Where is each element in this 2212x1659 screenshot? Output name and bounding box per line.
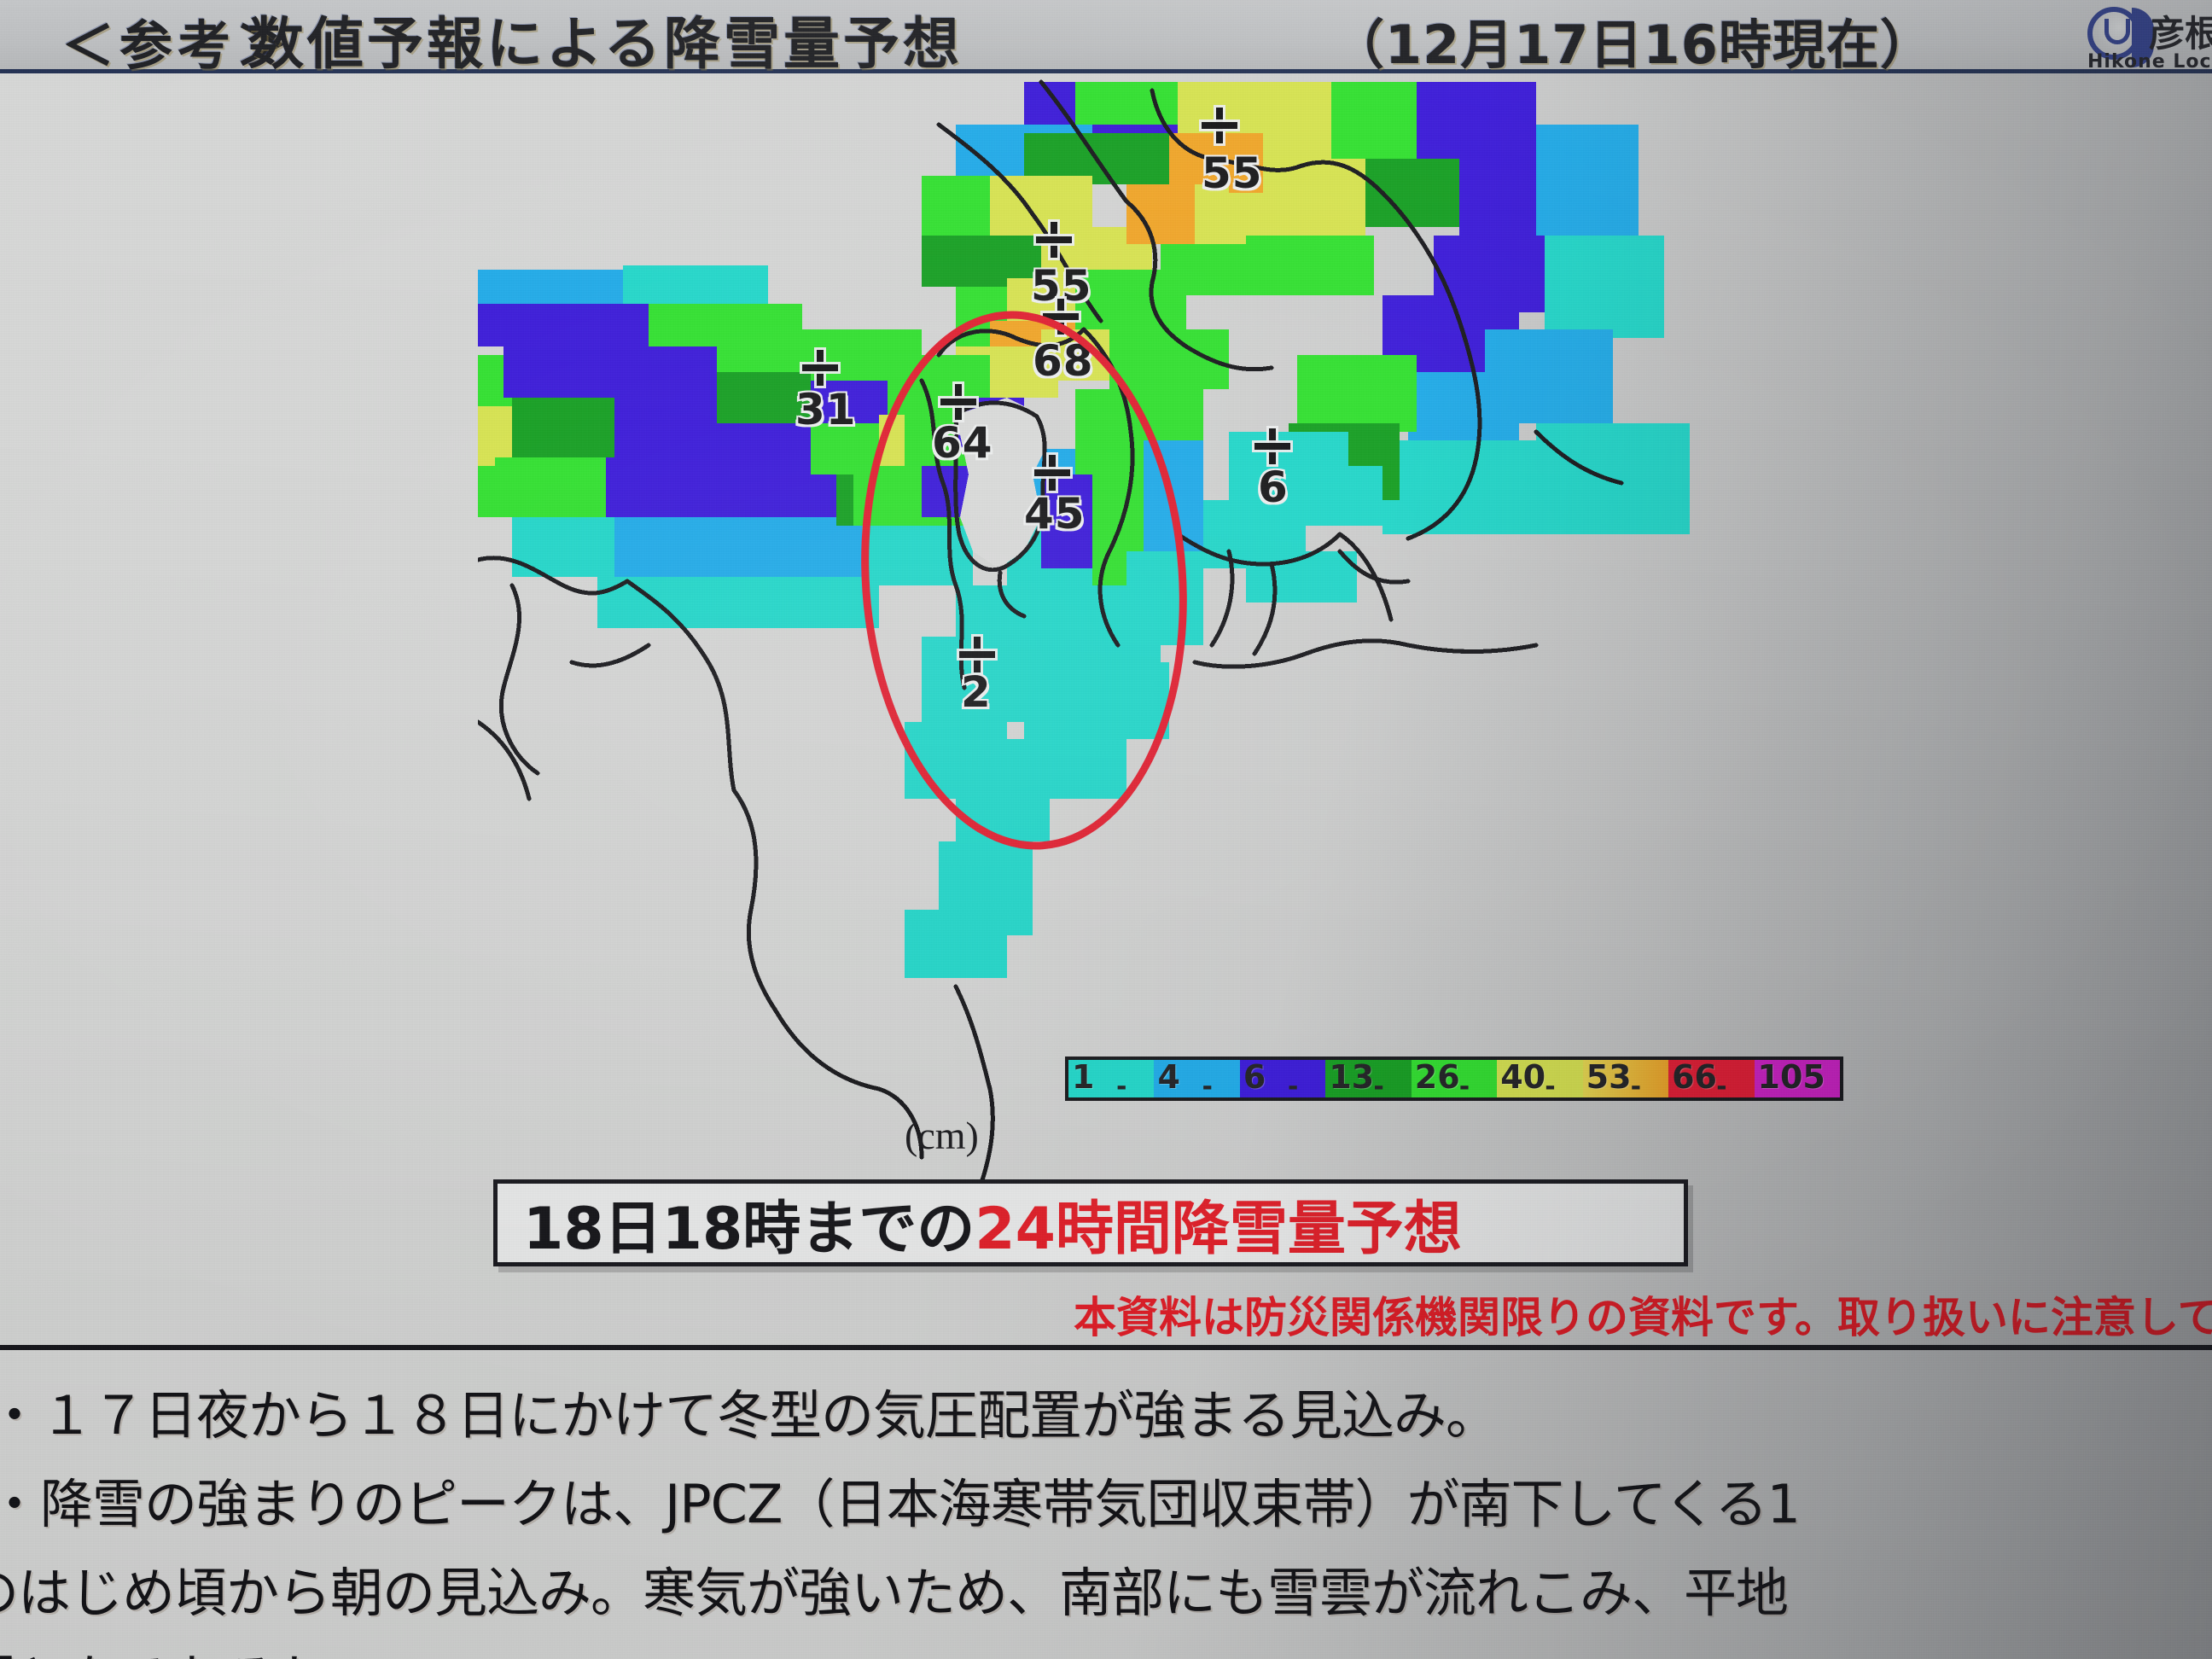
scale-dash: - [1716,1072,1726,1102]
scale-dash: - [1373,1072,1383,1102]
caption-emphasis: 24時間降雪量予想 [975,1181,1462,1266]
point-marker-cross [1034,220,1074,259]
page-title: 数値予報による降雪量予想 [247,0,963,80]
forecast-caption-box: 18日18時までの24時間降雪量予想 [493,1179,1688,1266]
point-value-6: 6 [1258,463,1289,512]
point-marker-cross [1253,427,1292,466]
hikone-met-logo: 彦根地 Hikone Local Met [2082,2,2212,73]
scale-label: 40 [1500,1058,1545,1096]
point-value-55-north: 55 [1202,148,1263,198]
slide-body: 55 55 68 31 64 45 6 2 (cm) 1- [0,73,2212,1659]
snowfall-color-scale: 1- 4- 6- 13- 26- 40- 53- 66- [1065,1057,1843,1101]
map-unit-label: (cm) [905,1113,979,1158]
point-marker-cross [800,348,840,387]
scale-swatch: 4- [1154,1060,1239,1097]
scale-label: 53 [1586,1058,1632,1096]
scale-label: 1 [1072,1058,1094,1096]
scale-label: 13 [1329,1058,1374,1096]
logo-name-ja: 彦根地 [2149,5,2212,57]
slide-header-bar: ＜参考＞ 数値予報による降雪量予想 （12月17日16時現在） 彦根地 Hiko… [0,0,2212,73]
point-value-31: 31 [795,385,857,434]
bullet-line-1: ・１７日夜から１８日にかけて冬型の気圧配置が強まる見込み。 [0,1372,1498,1449]
scale-swatch: 6- [1240,1060,1325,1097]
scale-dash: - [1545,1072,1555,1102]
scale-label: 6 [1243,1058,1266,1096]
bullet-line-2: ・降雪の強まりのピークは、JPCZ（日本海寒帯気団収束帯）が南下してくる1 [0,1461,1800,1538]
scale-swatch: 1- [1068,1060,1154,1097]
caption-prefix: 18日18時までの [523,1181,975,1266]
logo-name-en: Hikone Local Met [2087,51,2212,73]
header-issued-time: （12月17日16時現在） [1331,2,1934,79]
bullet-line-3: のはじめ頃から朝の見込み。寒気が強いため、南部にも雪雲が流れこみ、平地 [0,1550,1788,1627]
scale-label: 26 [1415,1058,1460,1096]
scale-dash: - [1631,1072,1641,1102]
scale-dash: - [1202,1072,1212,1102]
point-marker-cross [1200,106,1239,145]
scale-swatch: 66- [1668,1060,1754,1097]
logo-u-glyph [2104,19,2130,44]
section-divider [0,1345,2212,1350]
scale-label: 66 [1672,1058,1717,1096]
scale-label: 4 [1157,1058,1179,1096]
screenshot-root: ＜参考＞ 数値予報による降雪量予想 （12月17日16時現在） 彦根地 Hiko… [0,0,2212,1659]
scale-dash: - [1288,1072,1298,1102]
scale-swatch: 105 [1755,1060,1840,1097]
scale-dash: - [1116,1072,1126,1102]
scale-swatch: 53- [1583,1060,1668,1097]
scale-label: 105 [1758,1058,1825,1096]
scale-swatch: 40- [1497,1060,1582,1097]
scale-swatch: 26- [1412,1060,1497,1097]
restricted-use-notice: 本資料は防災関係機関限りの資料です。取り扱いに注意して [1074,1284,2212,1345]
scale-dash: - [1459,1072,1470,1102]
bullet-line-4: 雪となるおそれ。 [0,1637,381,1659]
scale-swatch: 13- [1325,1060,1411,1097]
